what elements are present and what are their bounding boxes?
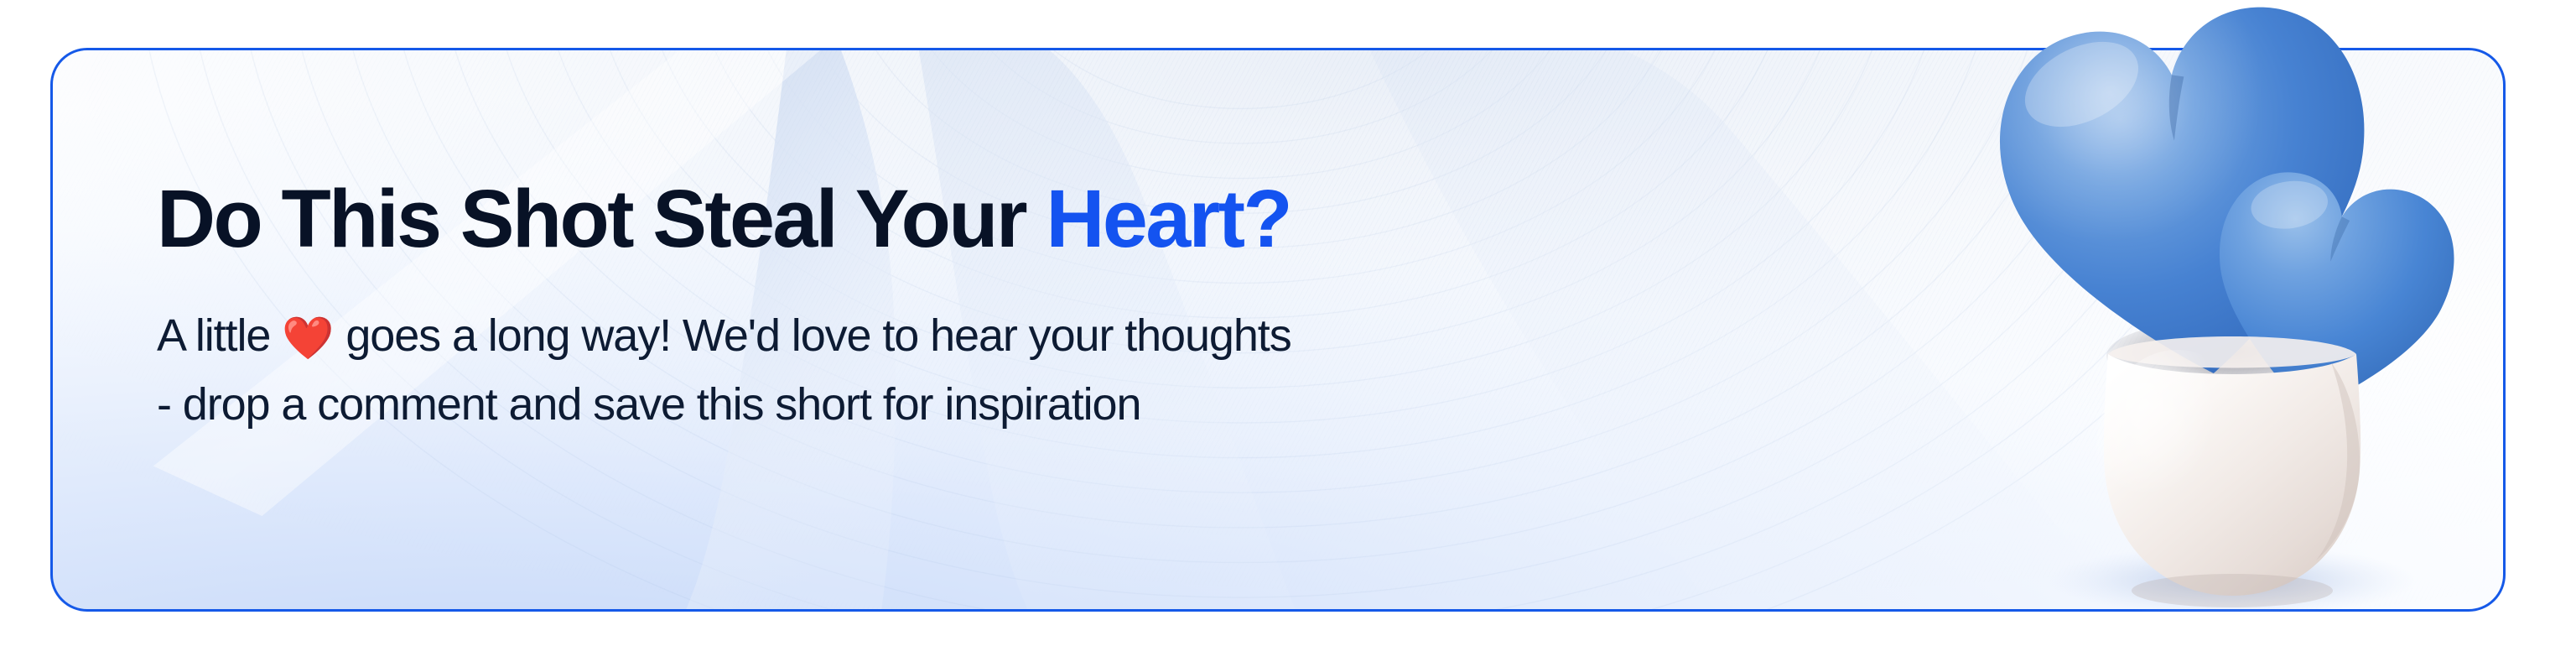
page-title: Do This Shot Steal Your Heart? bbox=[157, 178, 1750, 259]
subtext-line1-prefix: A little bbox=[157, 310, 282, 361]
headline-main-text: Do This Shot Steal Your bbox=[157, 173, 1046, 264]
cta-copy-block: Do This Shot Steal Your Heart? A little … bbox=[157, 178, 1750, 439]
red-heart-icon: ❤️ bbox=[282, 315, 334, 362]
cta-subtext-line-2: - drop a comment and save this short for… bbox=[157, 370, 1750, 439]
engagement-cta-card: Do This Shot Steal Your Heart? A little … bbox=[50, 48, 2506, 612]
banner-stage: Do This Shot Steal Your Heart? A little … bbox=[0, 0, 2576, 667]
headline-accent-text: Heart? bbox=[1046, 173, 1291, 264]
cta-subtext: A little ❤️ goes a long way! We'd love t… bbox=[157, 259, 1750, 439]
cta-subtext-line-1: A little ❤️ goes a long way! We'd love t… bbox=[157, 301, 1750, 370]
subtext-line1-suffix: goes a long way! We'd love to hear your … bbox=[334, 310, 1291, 361]
